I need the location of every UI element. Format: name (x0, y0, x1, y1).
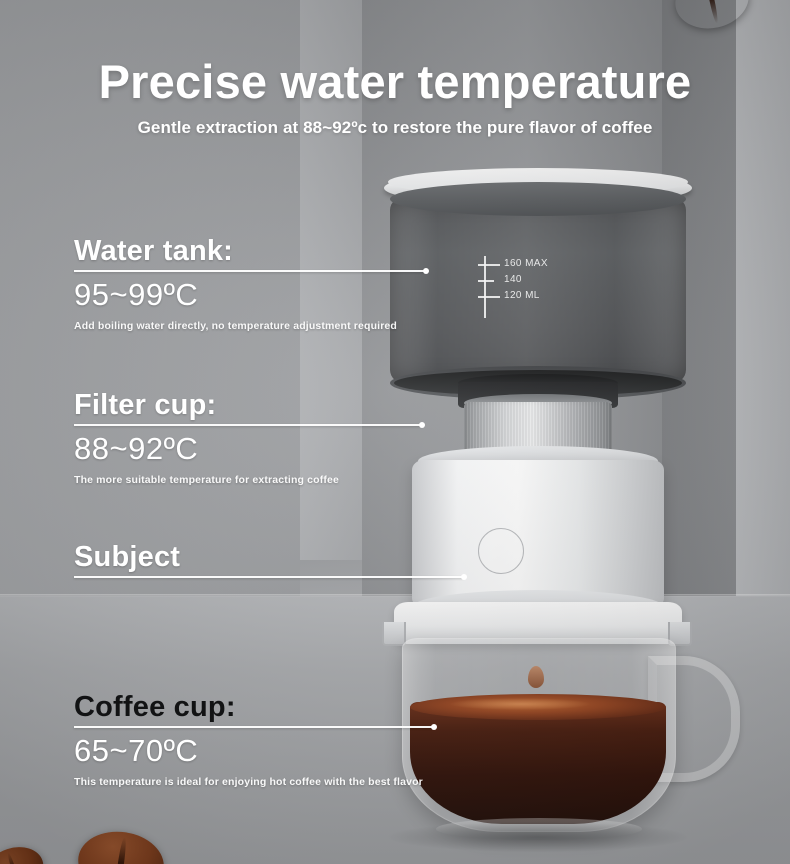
callout-leader-line (74, 726, 434, 728)
callout-subject: Subject (74, 542, 464, 578)
callout-description: Add boiling water directly, no temperatu… (74, 320, 426, 332)
callout-coffee-cup: Coffee cup: 65~70ºC This temperature is … (74, 692, 434, 788)
infographic-canvas: 160 MAX 140 120 ML Precise water tempera… (0, 0, 790, 864)
callout-leader-line (74, 270, 426, 272)
callout-label: Subject (74, 542, 464, 572)
callout-leader-line (74, 424, 422, 426)
callout-label: Water tank: (74, 236, 426, 266)
callout-label: Coffee cup: (74, 692, 434, 722)
callout-water-tank: Water tank: 95~99ºC Add boiling water di… (74, 236, 426, 332)
callout-value: 88~92ºC (74, 431, 422, 467)
page-subtitle: Gentle extraction at 88~92ºc to restore … (0, 118, 790, 138)
callout-leader-line (74, 576, 464, 578)
callout-description: This temperature is ideal for enjoying h… (74, 776, 434, 788)
callout-filter-cup: Filter cup: 88~92ºC The more suitable te… (74, 390, 422, 486)
page-title: Precise water temperature (0, 54, 790, 109)
callout-label: Filter cup: (74, 390, 422, 420)
callout-value: 95~99ºC (74, 277, 426, 313)
callout-description: The more suitable temperature for extrac… (74, 474, 422, 486)
callout-value: 65~70ºC (74, 733, 434, 769)
